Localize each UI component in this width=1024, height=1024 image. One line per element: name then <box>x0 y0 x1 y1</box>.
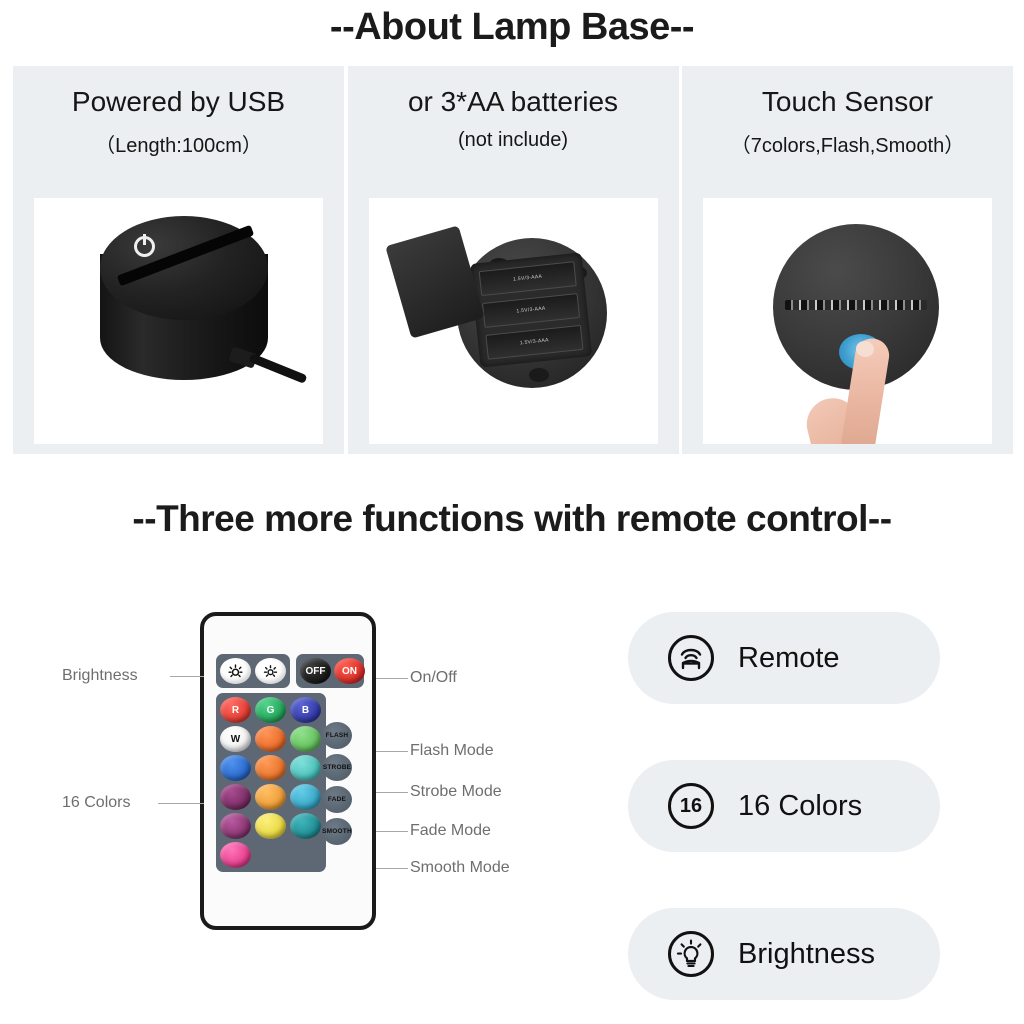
color-button-cyan[interactable] <box>290 784 321 810</box>
lamp-base-usb-photo <box>34 198 323 444</box>
remote-signal-icon <box>668 635 714 681</box>
sun-dim-icon <box>262 663 279 680</box>
smooth-mode-button[interactable]: SMOOTH <box>322 818 352 845</box>
color-button-green[interactable]: G <box>255 697 286 723</box>
sixteen-circle-icon: 16 <box>668 783 714 829</box>
battery-slot: 1.5V/3-AAA <box>485 325 583 360</box>
card-touch-sensor: Touch Sensor （7colors,Flash,Smooth） <box>682 66 1013 454</box>
strobe-mode-button[interactable]: STROBE <box>322 754 352 781</box>
remote-top-row: OFF ON <box>216 654 364 688</box>
feature-pill-label: Brightness <box>738 938 875 971</box>
brightness-pad <box>216 654 290 688</box>
power-symbol-icon <box>134 236 155 257</box>
sun-bright-icon <box>227 663 244 680</box>
page-title-remote-functions: --Three more functions with remote contr… <box>0 498 1024 540</box>
card-powered-by-usb: Powered by USB （Length:100cm） <box>13 66 344 454</box>
page-title-lamp-base: --About Lamp Base-- <box>0 6 1024 49</box>
fade-mode-button[interactable]: FADE <box>322 786 352 813</box>
battery-compartment: 1.5V/3-AAA 1.5V/3-AAA 1.5V/3-AAA <box>469 252 591 367</box>
lamp-base-card-row: Powered by USB （Length:100cm） or 3*AA ba… <box>13 66 1013 454</box>
usb-base-illustration <box>34 198 323 444</box>
color-button-royalblue[interactable] <box>220 755 251 781</box>
callout-fade-mode: Fade Mode <box>410 822 491 840</box>
brightness-down-button[interactable] <box>255 658 286 684</box>
color-button-amber[interactable] <box>255 784 286 810</box>
color-button-teal[interactable] <box>290 813 321 839</box>
callout-flash-mode: Flash Mode <box>410 742 494 760</box>
feature-pill-brightness: Brightness <box>628 908 940 1000</box>
color-button-turquoise[interactable] <box>290 755 321 781</box>
usb-cable <box>248 353 307 384</box>
callout-strobe-mode: Strobe Mode <box>410 783 502 801</box>
lamp-base-battery-photo: 1.5V/3-AAA 1.5V/3-AAA 1.5V/3-AAA <box>369 198 658 444</box>
callout-brightness: Brightness <box>62 667 138 685</box>
flash-mode-button[interactable]: FLASH <box>322 722 352 749</box>
color-button-yellow[interactable] <box>255 813 286 839</box>
card-title: Powered by USB <box>72 88 285 116</box>
card-title: or 3*AA batteries <box>408 88 618 116</box>
rubber-foot <box>529 368 549 382</box>
color-button-darkorange[interactable] <box>255 755 286 781</box>
feature-pill-label: 16 Colors <box>738 790 862 823</box>
callout-16-colors: 16 Colors <box>62 794 130 812</box>
led-strip <box>785 300 927 310</box>
color-button-blue[interactable]: B <box>290 697 321 723</box>
color-button-orange[interactable] <box>255 726 286 752</box>
feature-pill-remote: Remote <box>628 612 940 704</box>
card-title: Touch Sensor <box>762 88 933 116</box>
remote-signal-glyph <box>671 638 711 678</box>
lamp-base-touch-photo <box>703 198 992 444</box>
battery-slot: 1.5V/3-AAA <box>482 293 580 328</box>
color-button-grid: R G B W <box>216 693 326 872</box>
leader-line-brightness <box>170 676 204 677</box>
feature-pill-label: Remote <box>738 642 840 675</box>
color-button-magenta[interactable] <box>220 813 251 839</box>
sixteen-badge-number: 16 <box>671 786 711 826</box>
leader-line-fade <box>376 831 408 832</box>
color-button-red[interactable]: R <box>220 697 251 723</box>
callout-on-off: On/Off <box>410 669 457 687</box>
brightness-bulb-icon <box>668 931 714 977</box>
off-button[interactable]: OFF <box>300 658 331 684</box>
leader-line-flash <box>376 751 408 752</box>
color-button-purple[interactable] <box>220 784 251 810</box>
bulb-glyph <box>671 934 711 974</box>
card-aa-batteries: or 3*AA batteries (not include) 1.5V/3-A… <box>348 66 679 454</box>
card-subtitle: （7colors,Flash,Smooth） <box>731 129 964 158</box>
card-subtitle: (not include) <box>458 129 568 152</box>
color-button-pink[interactable] <box>220 842 251 868</box>
battery-cover-lid <box>385 225 485 338</box>
feature-pill-16-colors: 16 16 Colors <box>628 760 940 852</box>
battery-slot: 1.5V/3-AAA <box>478 261 576 296</box>
callout-smooth-mode: Smooth Mode <box>410 859 510 877</box>
leader-line-onoff <box>376 678 408 679</box>
color-button-white[interactable]: W <box>220 726 251 752</box>
mode-button-column: FLASH STROBE FADE SMOOTH <box>322 722 360 845</box>
leader-line-16-colors <box>158 803 204 804</box>
leader-line-smooth <box>376 868 408 869</box>
leader-line-strobe <box>376 792 408 793</box>
remote-control[interactable]: OFF ON R G B W FLASH STROBE FA <box>200 612 376 930</box>
color-button-lightgreen[interactable] <box>290 726 321 752</box>
power-pad: OFF ON <box>296 654 364 688</box>
on-button[interactable]: ON <box>334 658 365 684</box>
brightness-up-button[interactable] <box>220 658 251 684</box>
card-subtitle: （Length:100cm） <box>95 129 262 158</box>
